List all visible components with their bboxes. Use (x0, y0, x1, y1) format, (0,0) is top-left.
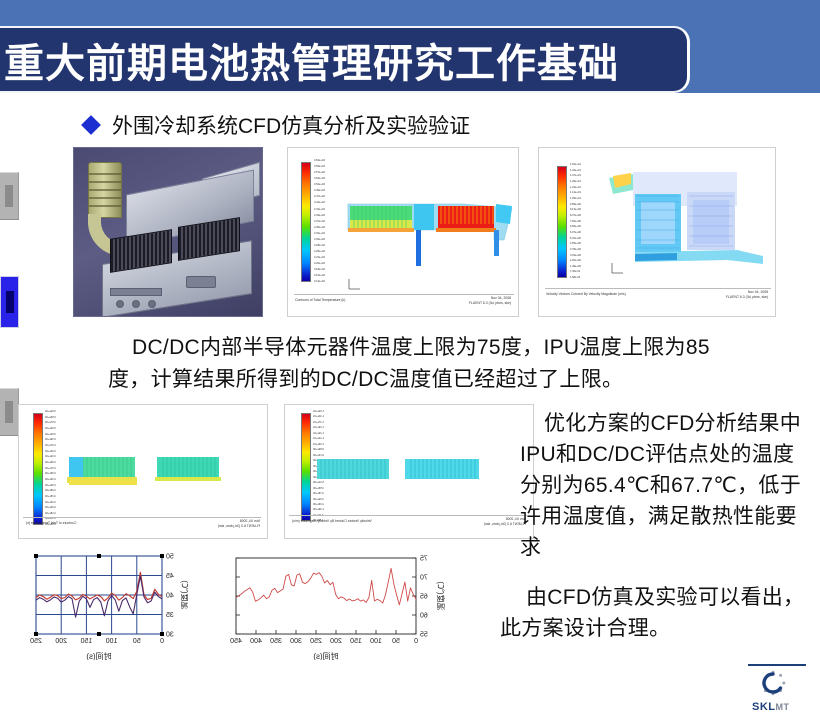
colorbar-ticks: 1.52e+011.44e+011.37e+011.29e+011.22e+01… (570, 164, 581, 280)
colorbar-tick-label: 7.30e-01 (570, 271, 581, 274)
x-tick-label: 0 (414, 638, 418, 645)
port-2 (132, 300, 140, 308)
colorbar-tick-label: 3.52e+02 (45, 434, 56, 437)
colorbar-tick-label: 1.22e+01 (313, 433, 324, 436)
colorbar-tick-label: 7.60e+00 (570, 221, 581, 224)
x-tick-label: 150 (350, 638, 362, 645)
colorbar-tick-label: 5.31e+00 (570, 238, 581, 241)
vector-caption: Velocity Vectors Colored By Velocity Mag… (546, 292, 626, 296)
colorbar-tick-label: 1.14e+01 (313, 438, 324, 441)
bullet-row: 外围冷却系统CFD仿真分析及实验验证 (84, 110, 470, 140)
x-tick-label: 350 (270, 638, 282, 645)
colorbar-tick-label: 1.06e+01 (313, 444, 324, 447)
colorbar-tick-label: 3.35e+02 (314, 227, 325, 230)
colorbar-tick-label: 1.49e+00 (570, 266, 581, 269)
y-axis-title: 温度(℃) (436, 581, 446, 611)
colorbar-tick-label: 3.57e+02 (45, 422, 56, 425)
x-tick-label: 150 (80, 638, 92, 645)
colorbar (301, 413, 311, 521)
vector-date: Nov 04, 2008 (748, 290, 768, 294)
y-tick-label: 60 (420, 612, 428, 619)
paragraph-conclusion: 由CFD仿真及实验可以看出，此方案设计合理。 (500, 582, 812, 644)
x-tick-label: 250 (30, 638, 42, 645)
mid-left-solver: FLUENT 6.3 (3d, pbns, ske) (218, 524, 260, 528)
y-tick-label: 30 (166, 631, 174, 638)
logo-text: SKLMT (752, 701, 790, 713)
logo-text-secondary: MT (776, 702, 790, 712)
page-title: 重大前期电池热管理研究工作基础 (0, 31, 619, 89)
x-tick-label: 50 (133, 638, 141, 645)
fluent-optimized-temperature-contour: 3.62e+023.59e+023.57e+023.54e+023.52e+02… (18, 404, 268, 539)
mid-left-caption: Contours of Total Temperature (k) (26, 521, 76, 525)
y-tick-label: 70 (420, 574, 428, 581)
y-tick-label: 45 (166, 573, 174, 580)
contour-solver: FLUENT 6.3 (3d, pbns, ske) (469, 301, 511, 305)
colorbar-tick-label: 3.23e+02 (45, 502, 56, 505)
chart-right-canvas: 0501001502002503003504004505560657075时间(… (196, 552, 446, 660)
colorbar-tick-label: 6.07e+00 (570, 232, 581, 235)
colorbar-tick-label: 3.39e+02 (314, 215, 325, 218)
chart-left-canvas: 0501001502002503035404550时间(s)温度(℃) (0, 548, 188, 660)
colorbar-tick-label: 3.59e+02 (314, 166, 325, 169)
x-tick-label: 100 (370, 638, 382, 645)
logo-text-primary: SKL (752, 701, 776, 713)
port-3 (148, 300, 156, 308)
colorbar (557, 166, 567, 278)
contour-plot-area (51, 451, 221, 493)
colorbar-tick-label: 3.18e+02 (45, 513, 56, 516)
contour-plot-area (344, 190, 514, 268)
x-tick-label: 400 (250, 638, 262, 645)
colorbar-tick-label: 3.20e+02 (45, 507, 56, 510)
sklmt-logo: SKLMT (746, 664, 808, 714)
chart-experiment-right: 0501001502002503003504004505560657075时间(… (196, 552, 446, 660)
colorbar-tick-label: 3.18e+02 (314, 269, 325, 272)
colorbar-tick-label: 3.28e+02 (314, 245, 325, 248)
x-tick-label: 50 (392, 638, 400, 645)
colorbar-tick-label: 1.29e+01 (570, 181, 581, 184)
colorbar-tick-label: 3.25e+02 (314, 251, 325, 254)
colorbar-tick-label: 3.44e+02 (314, 202, 325, 205)
colorbar-tick-label: 1.06e+01 (570, 198, 581, 201)
paragraph-limit: DC/DC内部半导体元器件温度上限为75度，IPU温度上限为85度，计算结果所得… (108, 332, 723, 395)
colorbar-tick-label: 3.57e+02 (314, 172, 325, 175)
fluent-optimized-velocity-vectors: 1.52e+011.44e+011.37e+011.29e+011.22e+01… (284, 404, 534, 539)
gear-circle-icon (760, 670, 786, 696)
cooling-duct-cad-render (73, 147, 263, 317)
edge-stub-glyph-icon (5, 185, 13, 207)
chart-experiment-left: 0501001502002503035404550时间(s)温度(℃) (0, 548, 188, 660)
y-tick-label: 40 (166, 592, 174, 599)
colorbar-tick-label: 3.62e+02 (314, 160, 325, 163)
colorbar-tick-label: 1.22e+01 (570, 187, 581, 190)
y-tick-label: 55 (420, 631, 428, 638)
colorbar-tick-label: 3.32e+02 (314, 233, 325, 236)
contour-caption: Contours of Total Temperature (k) (295, 298, 345, 302)
colorbar-tick-label: 3.78e+00 (313, 493, 324, 496)
colorbar-tick-label: 3.47e+02 (45, 445, 56, 448)
fluent-total-temperature-contour: 3.62e+023.59e+023.57e+023.54e+023.52e+02… (287, 147, 519, 317)
logo-rule (748, 664, 806, 666)
connector-strip (110, 288, 162, 296)
colorbar-tick-label: 3.49e+02 (314, 190, 325, 193)
colorbar-tick-label: 3.15e+02 (314, 275, 325, 278)
colorbar-tick-label: 3.37e+02 (314, 221, 325, 224)
paragraph-optimized: 优化方案的CFD分析结果中IPU和DC/DC评估点处的温度分别为65.4℃和67… (520, 408, 812, 563)
colorbar-tick-label: 2.26e+00 (313, 504, 324, 507)
colorbar-tick-label: 1.49e+00 (313, 509, 324, 512)
colorbar-tick-label: 3.13e+02 (314, 281, 325, 284)
colorbar-tick-label: 9.13e+00 (570, 209, 581, 212)
colorbar-tick-label: 1.37e+01 (570, 175, 581, 178)
bullet-label: 外围冷却系统CFD仿真分析及实验验证 (112, 110, 470, 140)
x-tick-label: 100 (106, 638, 118, 645)
colorbar-tick-label: 3.02e+00 (313, 499, 324, 502)
y-tick-label: 65 (420, 593, 428, 600)
x-tick-label: 0 (160, 638, 164, 645)
colorbar-tick-label: 3.49e+02 (45, 439, 56, 442)
x-tick-label: 200 (55, 638, 67, 645)
colorbar-tick-label: 1.44e+01 (570, 170, 581, 173)
edge-stub-2[interactable] (0, 276, 19, 328)
colorbar (33, 413, 43, 525)
colorbar-tick-label: 3.02e+00 (570, 255, 581, 258)
colorbar-tick-label: 9.89e+00 (313, 449, 324, 452)
colorbar-tick-label: 8.37e+00 (570, 215, 581, 218)
colorbar-tick-label: 1.29e+01 (313, 427, 324, 430)
colorbar-tick-label: 1.37e+01 (313, 422, 324, 425)
colorbar (301, 162, 311, 282)
colorbar-tick-label: 9.89e+00 (570, 204, 581, 207)
colorbar-tick-label: 3.54e+02 (314, 178, 325, 181)
x-tick-label: 200 (330, 638, 342, 645)
colorbar-tick-label: 3.62e+02 (45, 411, 56, 414)
colorbar-tick-label: 3.52e+02 (314, 184, 325, 187)
colorbar-tick-label: 1.14e+01 (570, 192, 581, 195)
edge-stub-glyph-icon (6, 291, 14, 313)
colorbar-tick-label: 2.26e+00 (570, 260, 581, 263)
x-tick-label: 250 (310, 638, 322, 645)
title-plate: 重大前期电池热管理研究工作基础 (0, 26, 690, 93)
y-tick-label: 35 (166, 612, 174, 619)
axis-triad (346, 276, 362, 293)
contour-date: Nov 04, 2008 (491, 296, 511, 300)
colorbar-ticks: 3.62e+023.59e+023.57e+023.54e+023.52e+02… (314, 160, 325, 284)
x-axis-title: 时间(s) (313, 651, 339, 660)
colorbar-tick-label: 1.58e-04 (570, 277, 581, 280)
colorbar-tick-label: 3.54e+02 (45, 428, 56, 431)
colorbar-tick-label: 1.52e+01 (570, 164, 581, 167)
colorbar-tick-label: 3.25e+02 (45, 496, 56, 499)
chart-plot-frame: 0501001502002503035404550时间(s)温度(℃) (0, 548, 188, 660)
y-axis-title: 温度(℃) (180, 580, 188, 610)
edge-stub-glyph-icon (5, 401, 13, 423)
colorbar-tick-label: 3.42e+02 (314, 209, 325, 212)
mid-right-caption: Velocity Vectors Colored By Velocity Mag… (292, 519, 372, 523)
colorbar-tick-label: 6.84e+00 (570, 226, 581, 229)
colorbar-tick-label: 1.44e+01 (313, 416, 324, 419)
vector-plot-area (607, 168, 767, 280)
x-axis-title: 时间(s) (86, 651, 112, 660)
colorbar-tick-label: 3.30e+02 (314, 239, 325, 242)
port-1 (116, 300, 124, 308)
edge-stub-1[interactable] (0, 172, 19, 220)
mid-left-date: Nov 04, 2008 (240, 519, 260, 523)
chart-plot-frame: 0501001502002503003504004505560657075时间(… (196, 552, 446, 660)
vector-plot-area (313, 453, 481, 489)
colorbar-tick-label: 1.52e+01 (313, 411, 324, 414)
edge-stub-3[interactable] (0, 388, 19, 436)
colorbar-tick-label: 3.59e+02 (45, 417, 56, 420)
axis-triad (609, 260, 625, 277)
colorbar-tick-label: 3.23e+02 (314, 257, 325, 260)
y-tick-label: 75 (420, 555, 428, 562)
colorbar-tick-label: 3.47e+02 (314, 196, 325, 199)
colorbar-tick-label: 3.20e+02 (314, 263, 325, 266)
vector-solver: FLUENT 6.3 (3d, pbns, ske) (726, 295, 768, 299)
duct-vertical (88, 162, 122, 218)
y-tick-label: 50 (166, 553, 174, 560)
colorbar-tick-label: 4.55e+00 (570, 243, 581, 246)
x-tick-label: 450 (230, 638, 242, 645)
colorbar-tick-label: 3.78e+00 (570, 249, 581, 252)
fluent-velocity-vectors: 1.52e+011.44e+011.37e+011.29e+011.22e+01… (538, 147, 776, 317)
slide-canvas: 重大前期电池热管理研究工作基础 外围冷却系统CFD仿真分析及实验验证 (0, 0, 820, 722)
x-tick-label: 300 (290, 638, 302, 645)
diamond-bullet-icon (81, 115, 101, 135)
label-plate (186, 276, 216, 288)
